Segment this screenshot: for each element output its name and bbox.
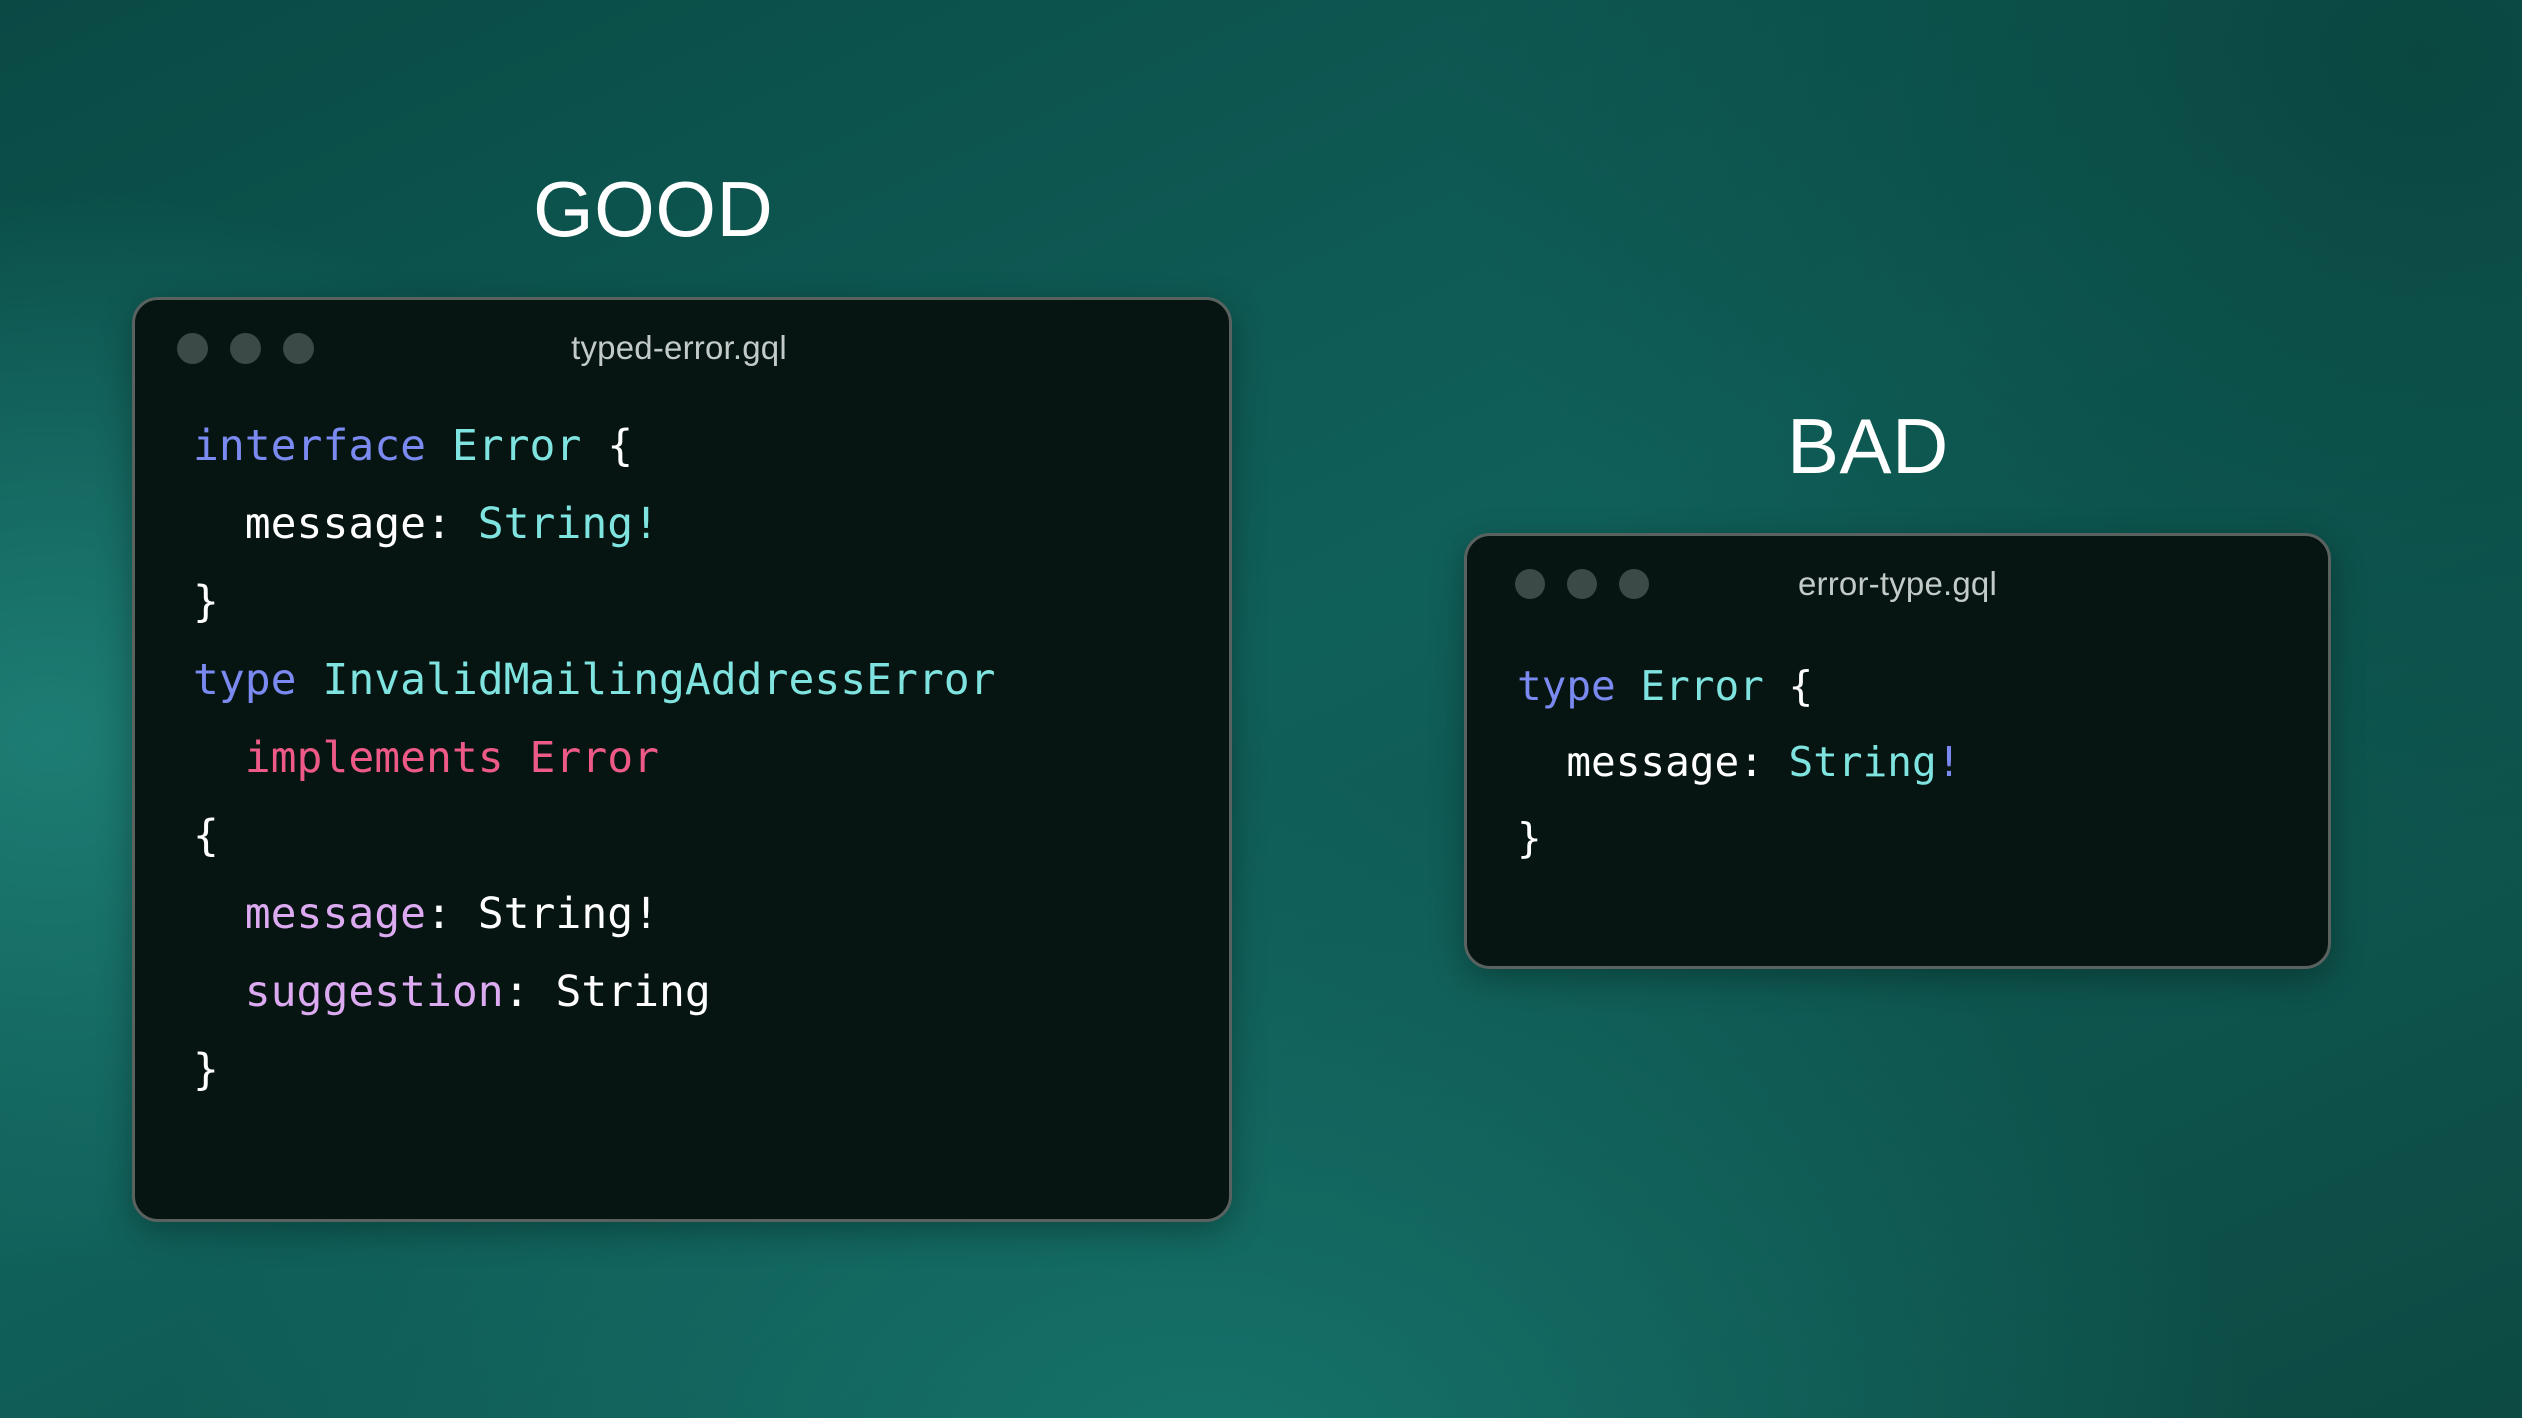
code-token: : [1739, 738, 1788, 786]
code-token: } [1517, 814, 1542, 862]
code-line: { [193, 797, 1229, 875]
code-token: InvalidMailingAddressError [322, 655, 995, 705]
code-token: String! [478, 889, 659, 939]
code-window-good: typed-error.gql interface Error { messag… [132, 297, 1232, 1222]
code-block-good: interface Error { message: String!}type … [135, 396, 1229, 1109]
code-token: String [1789, 738, 1937, 786]
code-line: interface Error { [193, 407, 1229, 485]
code-token: type [193, 655, 322, 705]
code-token: } [193, 1045, 219, 1095]
code-token: : [426, 499, 478, 549]
code-token: Error [1640, 662, 1788, 710]
code-token: type [1517, 662, 1640, 710]
comparison-stage: GOOD typed-error.gql interface Error { m… [0, 0, 2522, 1418]
code-line: message: String! [193, 485, 1229, 563]
section-heading-bad: BAD [1787, 407, 1949, 485]
code-token: String! [478, 499, 659, 549]
code-token: Error [452, 421, 607, 471]
code-line: type InvalidMailingAddressError [193, 641, 1229, 719]
code-token: { [607, 421, 633, 471]
code-token: message [193, 889, 426, 939]
traffic-light-close-icon[interactable] [1515, 569, 1545, 599]
code-window-bad: error-type.gql type Error { message: Str… [1464, 533, 2331, 969]
code-line: suggestion: String [193, 953, 1229, 1031]
code-token: ! [1937, 738, 1962, 786]
code-token: implements Error [193, 733, 659, 783]
traffic-lights-good [177, 333, 314, 364]
code-token: : [504, 967, 556, 1017]
traffic-light-minimize-icon[interactable] [1567, 569, 1597, 599]
code-token: : [426, 889, 478, 939]
code-block-bad: type Error { message: String!} [1467, 632, 2328, 876]
code-token: message [193, 499, 426, 549]
code-token: message [1517, 738, 1739, 786]
code-line: implements Error [193, 719, 1229, 797]
traffic-light-maximize-icon[interactable] [283, 333, 314, 364]
code-line: type Error { [1517, 648, 2328, 724]
code-line: } [193, 1031, 1229, 1109]
code-token: } [193, 577, 219, 627]
code-line: message: String! [1517, 724, 2328, 800]
section-heading-good: GOOD [533, 170, 773, 248]
traffic-light-minimize-icon[interactable] [230, 333, 261, 364]
traffic-light-close-icon[interactable] [177, 333, 208, 364]
code-line: } [1517, 800, 2328, 876]
traffic-light-maximize-icon[interactable] [1619, 569, 1649, 599]
window-titlebar-bad: error-type.gql [1467, 536, 2328, 632]
code-token: suggestion [193, 967, 504, 1017]
code-line: message: String! [193, 875, 1229, 953]
code-token: String [555, 967, 710, 1017]
traffic-lights-bad [1515, 569, 1649, 599]
code-token: { [193, 811, 219, 861]
code-line: } [193, 563, 1229, 641]
window-titlebar-good: typed-error.gql [135, 300, 1229, 396]
code-token: { [1789, 662, 1814, 710]
code-token: interface [193, 421, 452, 471]
